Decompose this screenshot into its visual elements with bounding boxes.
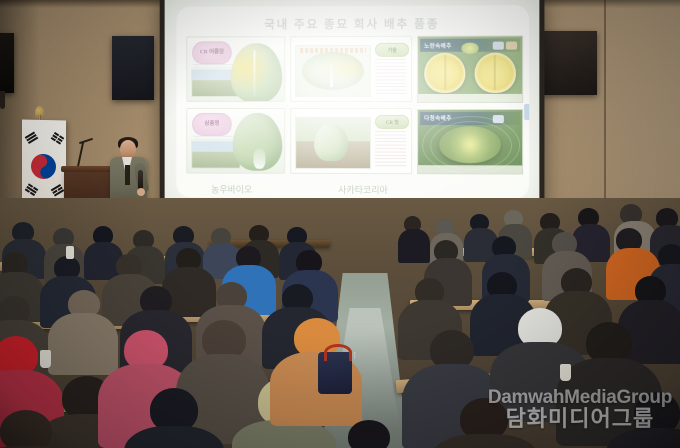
panel-footer xyxy=(418,165,522,173)
presenter-tie xyxy=(125,165,130,185)
cabbage-field-photo xyxy=(296,118,370,168)
text-lines xyxy=(375,131,406,167)
catalog-card: 가을 xyxy=(290,36,412,102)
slide-column-left: CR 여름장 삼총명 xyxy=(186,36,285,174)
variety-badge-label: 삼총명 xyxy=(193,114,231,135)
projection-screen: 국내 주요 종묘 회사 배추 품종 CR 여름장 xyxy=(160,0,545,219)
panel-chip-icon xyxy=(493,42,504,50)
seed-card: CR 여름장 xyxy=(186,36,285,102)
wall-monitor-icon xyxy=(541,31,597,95)
slide-captions: 농우바이오 사카타코리아 xyxy=(176,182,529,196)
catalog-photo xyxy=(295,45,371,97)
person-head xyxy=(0,410,52,448)
trigram-icon xyxy=(51,184,65,197)
variety-badge: 삼총명 xyxy=(192,113,231,136)
variety-badge-label: CR 맛 xyxy=(376,116,408,128)
paper-cup-icon xyxy=(66,246,74,259)
seed-card: 삼총명 xyxy=(186,108,285,174)
trigram-icon xyxy=(25,131,39,144)
variety-badge: CR 맛 xyxy=(375,115,409,129)
photo-panel: 노란속배추 xyxy=(417,35,523,102)
slide-tab-marker xyxy=(524,104,529,120)
trigram-icon xyxy=(25,183,39,196)
panel-chip-icon xyxy=(506,42,517,50)
text-lines xyxy=(375,59,406,95)
panel-footer xyxy=(418,94,522,102)
variety-badge: 가을 xyxy=(375,43,409,57)
cabbage-illustration xyxy=(233,113,283,171)
cabbage-illustration xyxy=(302,52,364,90)
person-head xyxy=(348,420,390,448)
slide-title: 국내 주요 종묘 회사 배추 품종 xyxy=(176,15,529,32)
taegeuk-symbol-icon xyxy=(26,150,60,184)
person-body xyxy=(398,229,430,263)
variety-badge: CR 여름장 xyxy=(192,41,231,64)
presentation-slide: 국내 주요 종묘 회사 배추 품종 CR 여름장 xyxy=(176,5,529,198)
handbag-handle-icon xyxy=(324,344,352,361)
cut-cabbage-half xyxy=(424,52,465,92)
catalog-text: 가을 xyxy=(373,43,408,97)
lecture-hall-photo: 국내 주요 종묘 회사 배추 품종 CR 여름장 xyxy=(0,0,680,448)
caption-right: 사카타코리아 xyxy=(287,183,439,197)
paper-cup-icon xyxy=(560,364,571,381)
presenter-hand xyxy=(137,188,145,196)
person-body xyxy=(48,313,118,375)
handheld-microphone-icon xyxy=(138,170,143,190)
catalog-photo xyxy=(295,117,371,169)
sprout-icon xyxy=(462,43,479,53)
cut-cabbage-half xyxy=(474,52,516,93)
slide-column-center: 가을 CR 맛 xyxy=(290,36,412,174)
cabbage-illustration xyxy=(231,43,283,102)
variety-badge-label: CR 여름장 xyxy=(193,42,231,63)
slide-body: CR 여름장 삼총명 xyxy=(186,35,523,174)
panel-header-label: 노란속배추 xyxy=(424,41,451,49)
wall-seam xyxy=(604,0,606,215)
trigram-icon xyxy=(51,132,65,145)
wall-speaker-icon xyxy=(0,33,14,93)
paper-cup-icon xyxy=(40,350,51,368)
catalog-text: CR 맛 xyxy=(373,115,408,169)
catalog-card: CR 맛 xyxy=(290,108,412,174)
wall-speaker-icon xyxy=(112,36,154,100)
photo-panel: 다청속배추 xyxy=(417,109,523,175)
variety-badge-label: 가을 xyxy=(376,44,408,56)
caption-left: 농우바이오 xyxy=(176,182,287,195)
slide-column-right: 노란속배추 다청속배추 xyxy=(417,35,523,174)
screen-surface: 국내 주요 종묘 회사 배추 품종 CR 여름장 xyxy=(165,0,540,213)
